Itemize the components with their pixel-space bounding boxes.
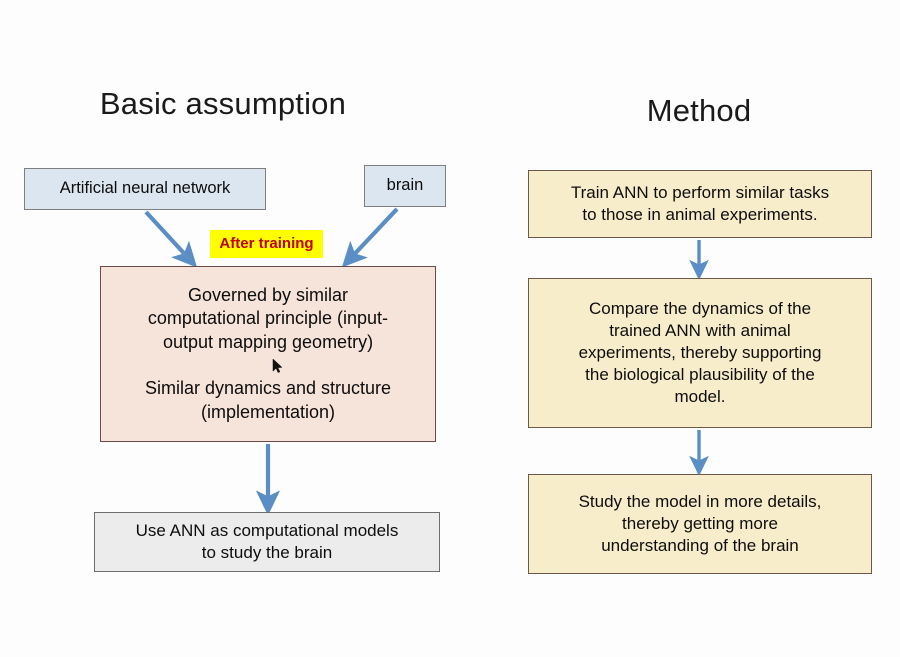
node-study-text: Study the model in more details, thereby… [529,491,871,557]
node-governed-text: Governed by similar computational princi… [101,284,435,424]
compare-line-1: Compare the dynamics of the [589,299,811,318]
governed-line-3: output mapping geometry) [163,332,373,352]
use-ann-line-2: to study the brain [202,543,332,562]
mouse-pointer-icon [272,358,284,376]
node-train-ann[interactable]: Train ANN to perform similar tasks to th… [528,170,872,238]
label-after-training-text: After training [210,234,323,254]
study-line-3: understanding of the brain [601,536,799,555]
column-title-basic-assumption: Basic assumption [94,86,352,122]
compare-line-4: the biological plausibility of the [585,365,815,384]
governed-line-5: (implementation) [201,402,335,422]
node-use-ann-text: Use ANN as computational models to study… [95,520,439,564]
arrow-brain-to-governed [347,209,397,262]
compare-line-2: trained ANN with animal [609,321,790,340]
slide-canvas: Basic assumption Method Artificial neura… [0,0,900,657]
column-title-method: Method [568,93,830,129]
train-line-2: to those in animal experiments. [582,205,817,224]
study-line-2: thereby getting more [622,514,778,533]
label-after-training[interactable]: After training [210,230,323,258]
study-line-1: Study the model in more details, [579,492,822,511]
node-train-text: Train ANN to perform similar tasks to th… [529,182,871,226]
node-governed-by-similar-principle[interactable]: Governed by similar computational princi… [100,266,436,442]
train-line-1: Train ANN to perform similar tasks [571,183,829,202]
compare-line-5: model. [674,387,725,406]
use-ann-line-1: Use ANN as computational models [136,521,399,540]
governed-line-4: Similar dynamics and structure [145,378,391,398]
governed-line-1: Governed by similar [188,285,348,305]
arrow-ann-to-governed [146,212,192,262]
governed-line-2: computational principle (input- [148,308,388,328]
compare-line-3: experiments, thereby supporting [579,343,822,362]
node-compare-dynamics[interactable]: Compare the dynamics of the trained ANN … [528,278,872,428]
node-study-model[interactable]: Study the model in more details, thereby… [528,474,872,574]
node-use-ann-as-computational-models[interactable]: Use ANN as computational models to study… [94,512,440,572]
node-brain-label: brain [365,175,445,196]
node-artificial-neural-network[interactable]: Artificial neural network [24,168,266,210]
node-brain[interactable]: brain [364,165,446,207]
node-compare-text: Compare the dynamics of the trained ANN … [529,298,871,408]
node-artificial-neural-network-label: Artificial neural network [25,178,265,199]
